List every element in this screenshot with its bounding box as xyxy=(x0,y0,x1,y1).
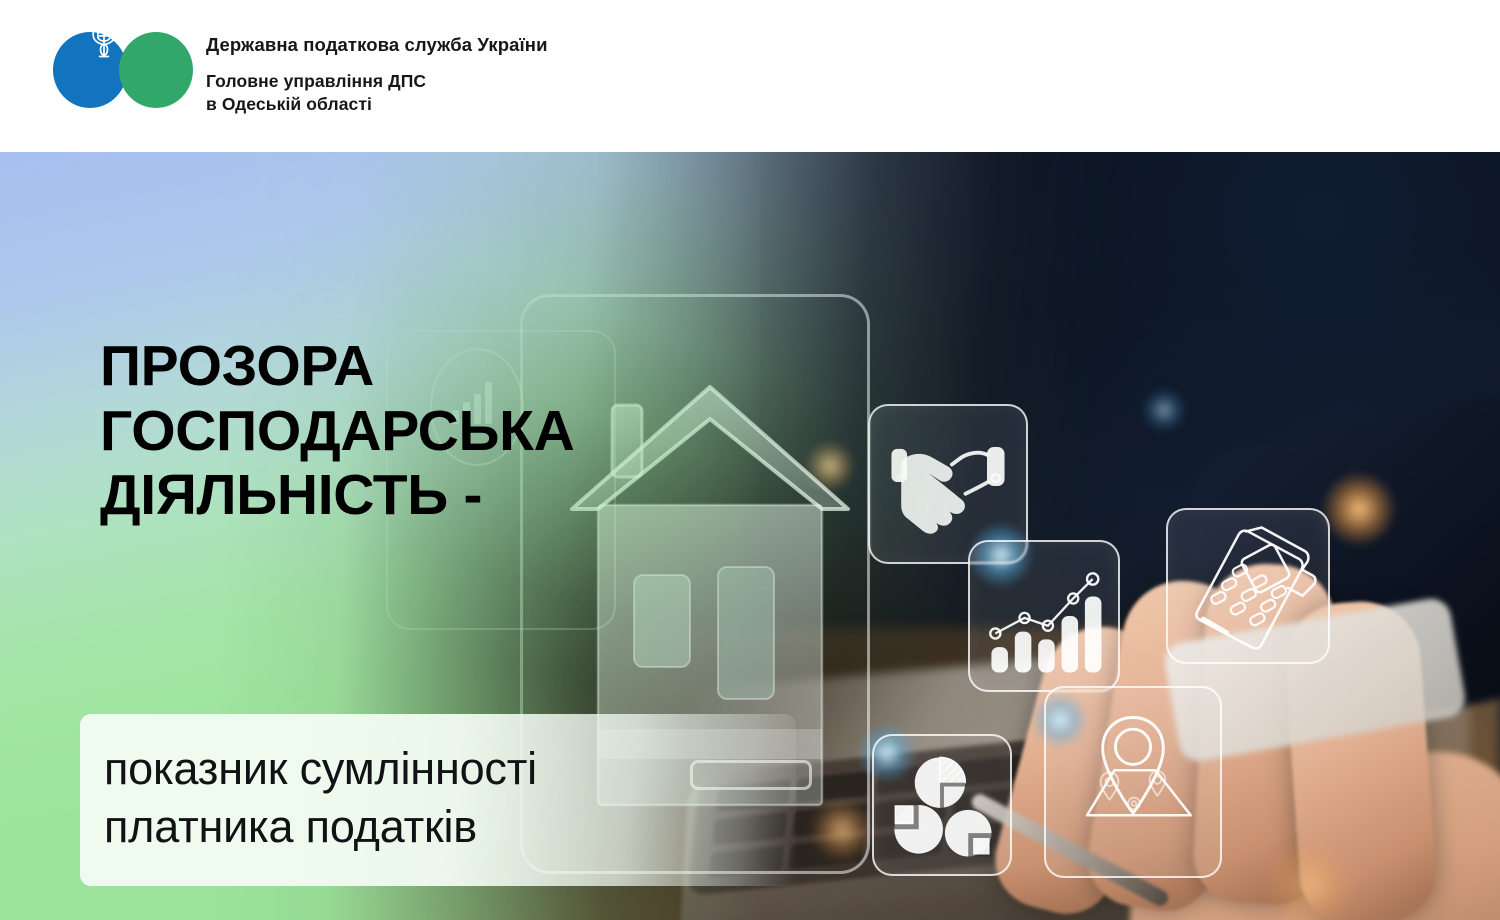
dps-logo xyxy=(53,32,193,108)
headline-line-1: ПРОЗОРА xyxy=(100,334,800,399)
department-line-2: в Одеській області xyxy=(206,93,886,115)
headline-line-2: ГОСПОДАРСЬКА xyxy=(100,399,800,464)
header-text-block: Державна податкова служба України Головн… xyxy=(206,34,886,115)
pos-terminal-icon xyxy=(1168,510,1328,662)
site-header: Державна податкова служба України Головн… xyxy=(0,0,1500,152)
page-subtitle: показник сумлінності платника податків xyxy=(104,740,804,856)
card-pie-charts[interactable] xyxy=(872,734,1012,876)
headline-block: ПРОЗОРА ГОСПОДАРСЬКА ДІЯЛЬНІСТЬ - xyxy=(100,334,800,528)
banner-page: Державна податкова служба України Головн… xyxy=(0,0,1500,920)
trident-icon xyxy=(88,16,120,60)
department-line-1: Головне управління ДПС xyxy=(206,70,886,92)
pie-charts-icon xyxy=(874,736,1010,874)
card-map-location[interactable] xyxy=(1044,686,1222,878)
card-growth-chart[interactable] xyxy=(968,540,1120,692)
subtitle-block: показник сумлінності платника податків xyxy=(104,740,804,856)
subtitle-line-2: платника податків xyxy=(104,798,804,856)
organization-title: Державна податкова служба України xyxy=(206,34,886,56)
department-title: Головне управління ДПС в Одеській област… xyxy=(206,70,886,115)
page-title: ПРОЗОРА ГОСПОДАРСЬКА ДІЯЛЬНІСТЬ - xyxy=(100,334,800,528)
logo-green-circle xyxy=(119,32,193,108)
map-location-icon xyxy=(1046,688,1220,876)
subtitle-line-1: показник сумлінності xyxy=(104,740,804,798)
handshake-icon xyxy=(870,406,1026,562)
headline-line-3: ДІЯЛЬНІСТЬ - xyxy=(100,463,800,528)
card-pos-terminal[interactable] xyxy=(1166,508,1330,664)
hero-banner: ПРОЗОРА ГОСПОДАРСЬКА ДІЯЛЬНІСТЬ - показн… xyxy=(0,152,1500,920)
growth-chart-icon xyxy=(970,542,1118,690)
